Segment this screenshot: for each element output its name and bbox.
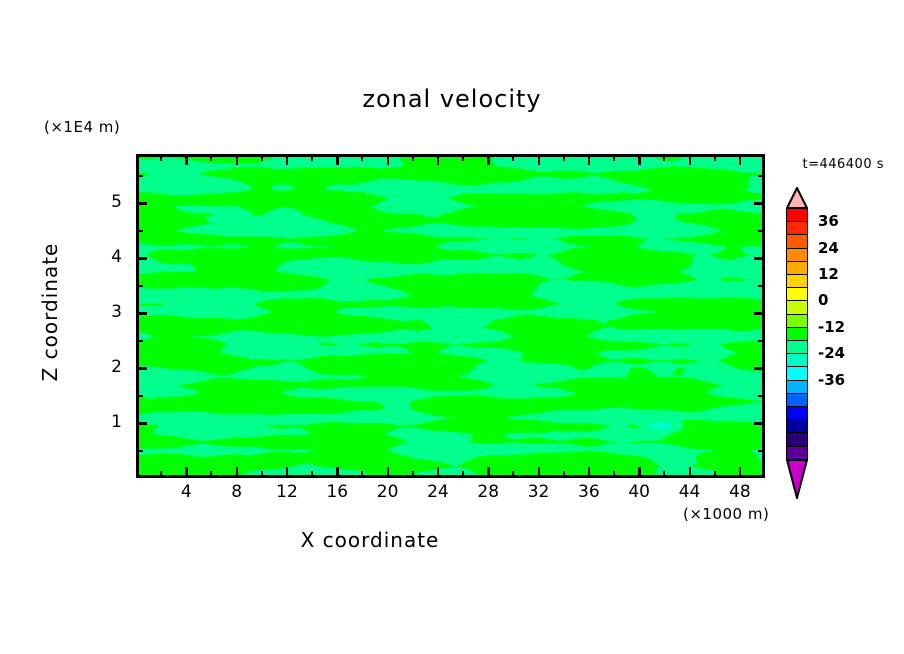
tick-mark: [739, 154, 742, 165]
tick-mark: [236, 154, 239, 165]
tick-mark: [512, 154, 514, 161]
tick-mark: [412, 471, 414, 478]
tick-mark: [758, 450, 765, 452]
colorbar-tick-label: 0: [818, 291, 828, 309]
tick-mark: [758, 395, 765, 397]
colorbar-tick-label: 24: [818, 239, 839, 257]
tick-mark: [758, 340, 765, 342]
tick-mark: [286, 154, 289, 165]
x-tick-label: 8: [217, 482, 257, 502]
tick-mark: [638, 154, 641, 165]
tick-mark: [236, 467, 239, 478]
tick-mark: [512, 471, 514, 478]
tick-mark: [754, 422, 765, 425]
tick-mark: [412, 154, 414, 161]
colorbar-tick-label: -12: [818, 318, 845, 336]
tick-mark: [136, 285, 143, 287]
colorbar-over-arrow: [786, 187, 808, 209]
tick-mark: [136, 367, 147, 370]
tick-mark: [754, 312, 765, 315]
x-tick-label: 4: [166, 482, 206, 502]
tick-mark: [387, 154, 390, 165]
tick-mark: [714, 471, 716, 478]
x-axis-title: X coordinate: [0, 528, 740, 552]
x-tick-label: 40: [619, 482, 659, 502]
tick-mark: [437, 467, 440, 478]
y-tick-label: 3: [96, 302, 122, 322]
x-tick-label: 20: [368, 482, 408, 502]
tick-mark: [758, 230, 765, 232]
tick-mark: [185, 154, 188, 165]
tick-mark: [588, 467, 591, 478]
tick-mark: [136, 450, 143, 452]
tick-mark: [160, 471, 162, 478]
tick-mark: [754, 257, 765, 260]
tick-mark: [136, 230, 143, 232]
tick-mark: [311, 154, 313, 161]
tick-mark: [185, 467, 188, 478]
y-tick-label: 5: [96, 192, 122, 212]
colorbar-tick-label: -24: [818, 344, 845, 362]
tick-mark: [714, 154, 716, 161]
tick-mark: [462, 154, 464, 161]
x-tick-label: 36: [569, 482, 609, 502]
tick-mark: [487, 467, 490, 478]
tick-mark: [663, 154, 665, 161]
x-tick-label: 28: [468, 482, 508, 502]
x-tick-label: 44: [670, 482, 710, 502]
tick-mark: [758, 175, 765, 177]
chart-title: zonal velocity: [0, 85, 904, 113]
tick-mark: [563, 154, 565, 161]
y-axis-unit-label: (×1E4 m): [44, 118, 120, 136]
tick-mark: [563, 471, 565, 478]
tick-mark: [210, 471, 212, 478]
x-tick-label: 16: [317, 482, 357, 502]
tick-mark: [538, 154, 541, 165]
tick-mark: [261, 154, 263, 161]
tick-mark: [210, 154, 212, 161]
tick-mark: [588, 154, 591, 165]
tick-mark: [286, 467, 289, 478]
contour-plot-area: [136, 154, 765, 478]
colorbar-tick-label: 12: [818, 265, 839, 283]
tick-mark: [638, 467, 641, 478]
x-axis-unit-label: (×1000 m): [683, 505, 769, 523]
tick-mark: [136, 395, 143, 397]
x-tick-label: 48: [720, 482, 760, 502]
tick-mark: [437, 154, 440, 165]
tick-mark: [160, 154, 162, 161]
tick-mark: [136, 175, 143, 177]
tick-mark: [758, 285, 765, 287]
y-tick-label: 2: [96, 357, 122, 377]
colorbar-tick-label: -36: [818, 371, 845, 389]
tick-mark: [136, 202, 147, 205]
tick-mark: [261, 471, 263, 478]
tick-mark: [754, 367, 765, 370]
y-axis-title: Z coordinate: [38, 202, 62, 422]
tick-mark: [361, 471, 363, 478]
x-tick-label: 32: [519, 482, 559, 502]
tick-mark: [136, 312, 147, 315]
tick-mark: [311, 471, 313, 478]
tick-mark: [487, 154, 490, 165]
x-tick-label: 24: [418, 482, 458, 502]
tick-mark: [136, 422, 147, 425]
tick-mark: [336, 467, 339, 478]
tick-mark: [361, 154, 363, 161]
colorbar-under-arrow: [786, 459, 808, 499]
tick-mark: [387, 467, 390, 478]
tick-mark: [754, 202, 765, 205]
tick-mark: [136, 257, 147, 260]
tick-mark: [336, 154, 339, 165]
tick-mark: [538, 467, 541, 478]
tick-mark: [613, 154, 615, 161]
colorbar-tick-label: 36: [818, 212, 839, 230]
y-tick-label: 4: [96, 247, 122, 267]
tick-mark: [613, 471, 615, 478]
y-tick-label: 1: [96, 412, 122, 432]
contour-field-canvas: [139, 157, 762, 475]
tick-mark: [739, 467, 742, 478]
tick-mark: [689, 467, 692, 478]
timestamp-annotation: t=446400 s: [802, 157, 884, 172]
x-tick-label: 12: [267, 482, 307, 502]
tick-mark: [663, 471, 665, 478]
colorbar: 3624120-12-24-36: [778, 186, 818, 516]
tick-mark: [462, 471, 464, 478]
tick-mark: [689, 154, 692, 165]
tick-mark: [136, 340, 143, 342]
